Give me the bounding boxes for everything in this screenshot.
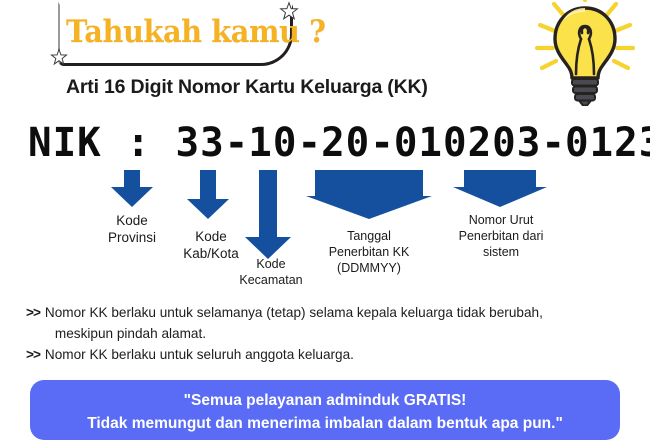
caption-line: Kecamatan [228, 272, 314, 288]
page-subtitle: Arti 16 Digit Nomor Kartu Keluarga (KK) [66, 76, 428, 99]
arrow-tanggal-penerbitan [305, 170, 433, 220]
infographic-poster: Tahukah kamu ? Arti 16 Digit Nomor Kartu… [0, 0, 650, 433]
nik-group-1: 33 [176, 120, 225, 166]
bullet-text-line1: Nomor KK berlaku untuk seluruh anggota k… [45, 347, 354, 362]
footer-banner: "Semua pelayanan adminduk GRATIS! Tidak … [30, 380, 620, 440]
caption-line: Penerbitan dari [448, 228, 554, 244]
caption-line: Provinsi [96, 229, 168, 246]
star-icon [50, 48, 68, 66]
footer-line-2: Tidak memungut dan menerima imbalan dala… [87, 412, 563, 435]
nik-group-5: 0123 [565, 120, 650, 166]
caption-line: Kode [172, 228, 250, 245]
nik-group-4: 010203 [394, 120, 541, 166]
nik-number: NIK : 33-10-20-010203-0123 [28, 120, 650, 166]
star-icon [279, 1, 299, 21]
caption-line: (DDMMYY) [318, 260, 420, 276]
caption-line: Tanggal [318, 228, 420, 244]
list-item: >> Nomor KK berlaku untuk seluruh anggot… [26, 345, 636, 366]
notes-list: >> Nomor KK berlaku untuk selamanya (tet… [26, 303, 636, 367]
arrow-kode-provinsi [110, 170, 154, 208]
caption-tanggal-penerbitan: Tanggal Penerbitan KK (DDMMYY) [318, 228, 420, 276]
bullet-marker: >> [26, 303, 40, 324]
arrow-kode-kabkota [186, 170, 230, 220]
caption-kode-provinsi: Kode Provinsi [96, 212, 168, 247]
nik-separator: - [297, 120, 321, 166]
caption-line: Kode [228, 256, 314, 272]
bullet-text: Nomor KK berlaku untuk selamanya (tetap)… [45, 303, 636, 344]
caption-nomor-urut: Nomor Urut Penerbitan dari sistem [448, 212, 554, 260]
arrow-kode-kecamatan [244, 170, 292, 260]
footer-line-1: "Semua pelayanan adminduk GRATIS! [184, 389, 467, 412]
caption-line: Kode [96, 212, 168, 229]
nik-separator: - [225, 120, 249, 166]
bullet-text-line1: Nomor KK berlaku untuk selamanya (tetap)… [45, 305, 543, 320]
caption-line: sistem [448, 244, 554, 260]
bullet-text: Nomor KK berlaku untuk seluruh anggota k… [45, 345, 636, 366]
nik-group-3: 20 [321, 120, 370, 166]
bullet-marker: >> [26, 345, 40, 366]
caption-line: Penerbitan KK [318, 244, 420, 260]
nik-group-2: 10 [248, 120, 297, 166]
arrow-nomor-urut [452, 170, 548, 208]
lightbulb-icon [524, 0, 646, 106]
caption-kode-kecamatan: Kode Kecamatan [228, 256, 314, 288]
nik-label: NIK : [28, 120, 151, 166]
caption-line: Nomor Urut [448, 212, 554, 228]
list-item: >> Nomor KK berlaku untuk selamanya (tet… [26, 303, 636, 344]
nik-separator: - [541, 120, 565, 166]
bullet-text-line2: meskipun pindah alamat. [45, 324, 636, 345]
nik-separator: - [370, 120, 394, 166]
